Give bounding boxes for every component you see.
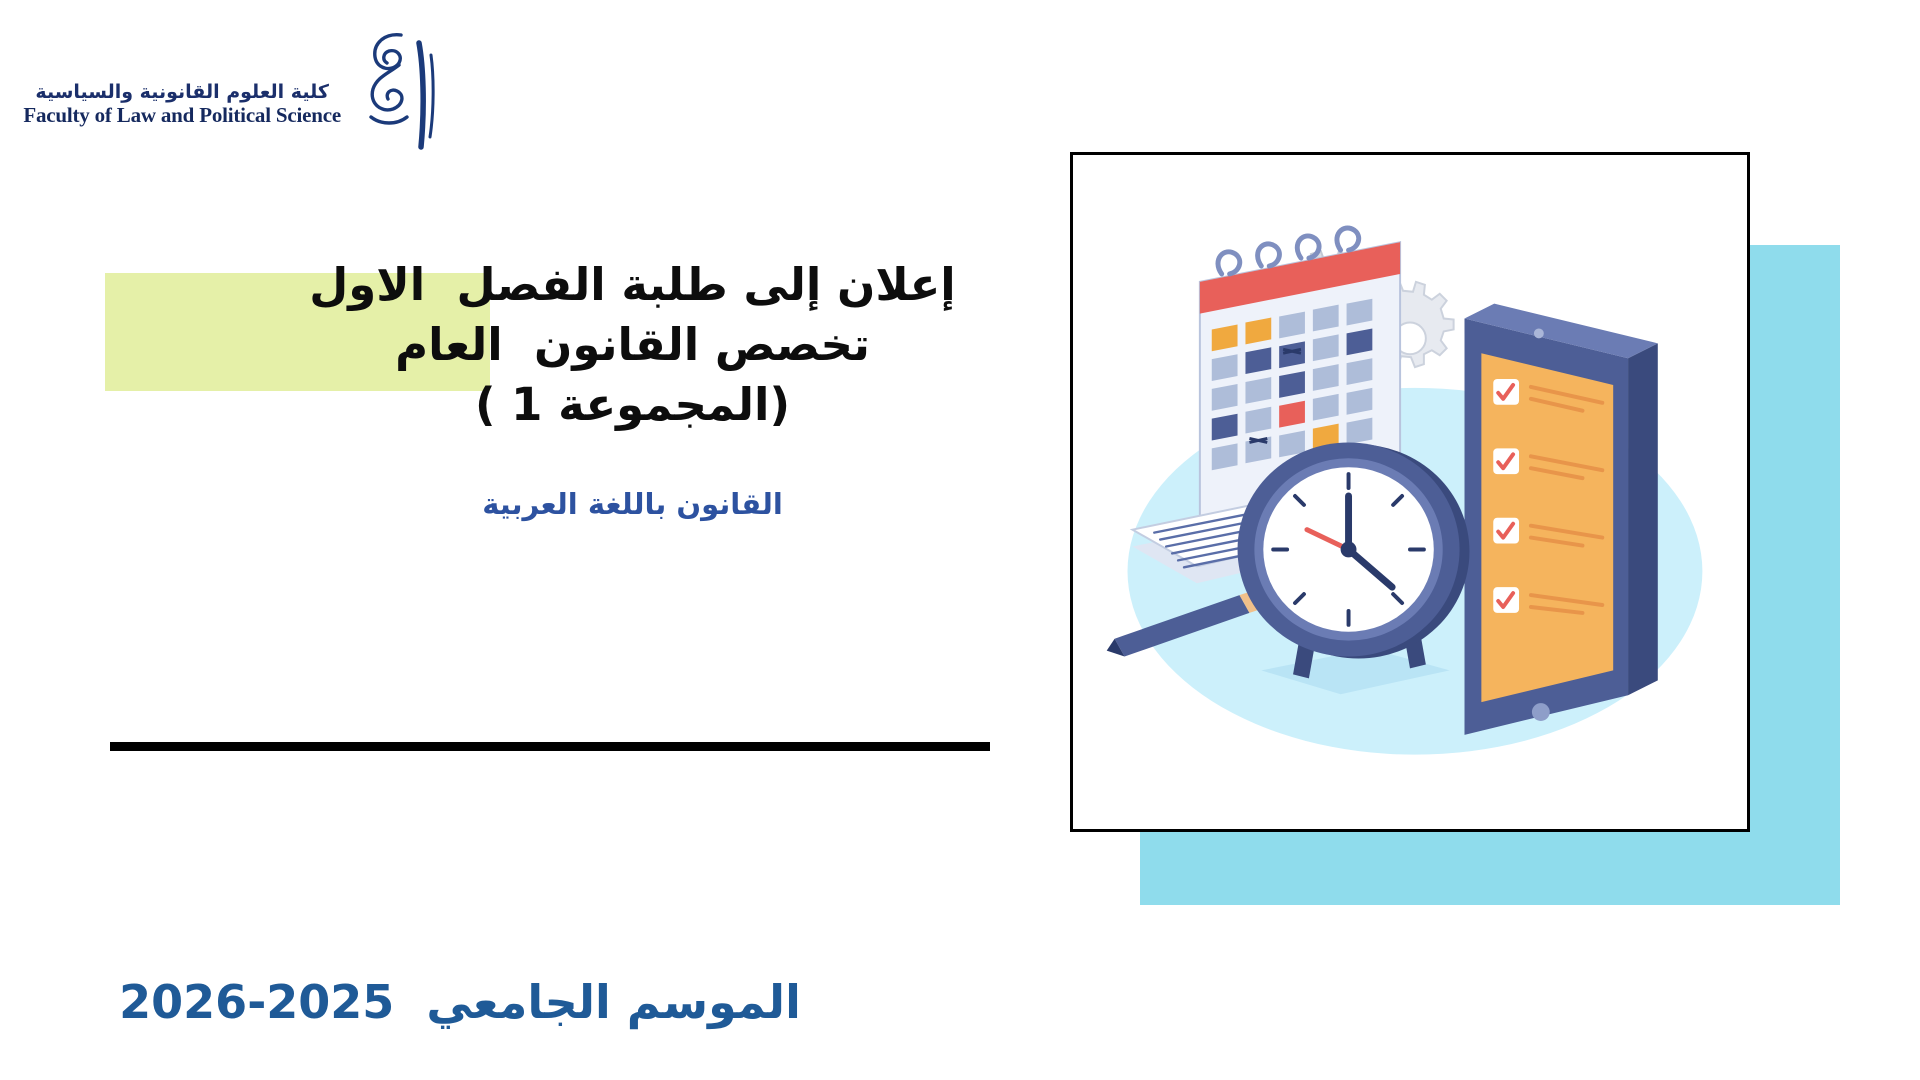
- faculty-name-arabic: كلية العلوم القانونية والسياسية: [23, 82, 341, 104]
- headline-line-1: إعلان إلى طلبة الفصل الاول: [260, 255, 1005, 315]
- headline-line-2: تخصص القانون العام: [260, 315, 1005, 375]
- headline-block: إعلان إلى طلبة الفصل الاول تخصص القانون …: [105, 255, 1005, 435]
- schedule-planning-illustration: [1070, 152, 1750, 832]
- headline-line-3: (المجموعة 1 ): [260, 375, 1005, 435]
- content-column: إعلان إلى طلبة الفصل الاول تخصص القانون …: [105, 255, 1005, 521]
- page-title: إعلان إلى طلبة الفصل الاول تخصص القانون …: [260, 255, 1005, 435]
- tablet-checklist-icon: [1465, 304, 1658, 735]
- faculty-logo: كلية العلوم القانونية والسياسية Faculty …: [30, 20, 450, 155]
- subtitle: القانون باللغة العربية: [260, 487, 1005, 521]
- academic-season-label: الموسم الجامعي 2025-2026: [105, 975, 815, 1029]
- divider: [110, 742, 990, 751]
- faculty-logo-text: كلية العلوم القانونية والسياسية Faculty …: [23, 48, 341, 128]
- faculty-name-english: Faculty of Law and Political Science: [23, 103, 341, 127]
- announcement-slide: كلية العلوم القانونية والسياسية Faculty …: [0, 0, 1920, 1080]
- faculty-emblem-icon: [355, 25, 450, 150]
